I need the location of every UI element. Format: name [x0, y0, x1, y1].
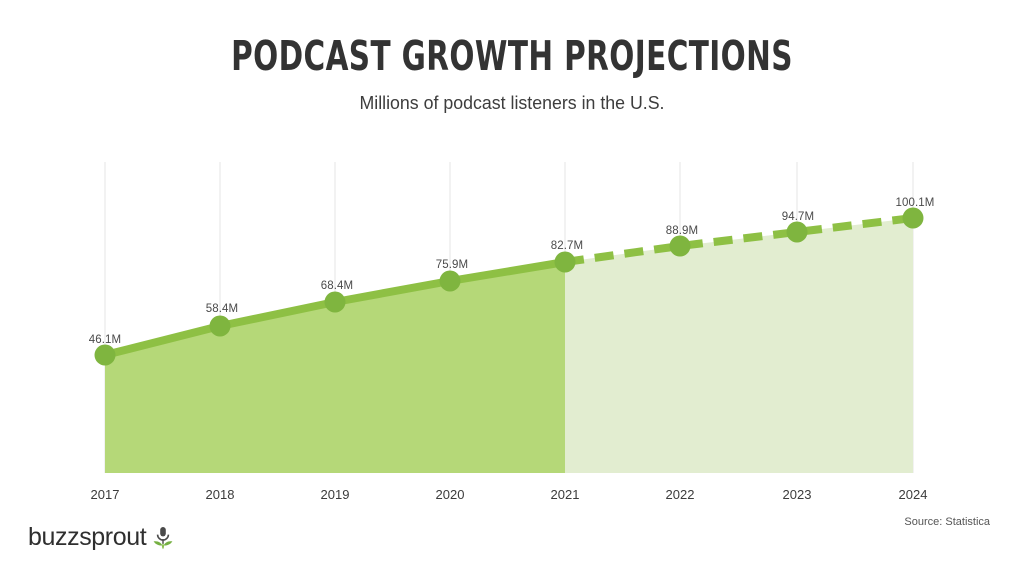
data-point-label: 100.1M	[896, 197, 935, 210]
data-point-marker[interactable]	[95, 345, 116, 366]
buzzsprout-logo[interactable]: buzzsprout	[28, 524, 174, 551]
x-axis-tick-label: 2023	[783, 487, 812, 503]
chart-svg	[0, 0, 1024, 576]
data-point-marker[interactable]	[670, 236, 691, 257]
area-fill-projected	[565, 218, 913, 473]
x-axis-tick-label: 2021	[551, 487, 580, 503]
logo-wordmark: buzzsprout	[28, 524, 146, 551]
x-axis-tick-label: 2019	[321, 487, 350, 503]
data-point-label: 82.7M	[551, 240, 583, 253]
data-point-marker[interactable]	[210, 316, 231, 337]
data-point-label: 94.7M	[782, 211, 814, 224]
x-axis-tick-label: 2018	[206, 487, 235, 503]
chart-page: Podcast Growth Projections Millions of p…	[0, 0, 1024, 576]
x-axis-tick-label: 2020	[436, 487, 465, 503]
chart-plot-area: 46.1M 58.4M 68.4M 75.9M 82.7M 88.9M 94.7…	[0, 0, 1024, 576]
data-point-label: 58.4M	[206, 303, 238, 316]
data-point-label: 46.1M	[89, 334, 121, 347]
data-point-marker[interactable]	[440, 271, 461, 292]
data-point-marker[interactable]	[325, 292, 346, 313]
data-point-marker[interactable]	[555, 252, 576, 273]
source-note: Source: Statistica	[904, 515, 990, 529]
data-point-label: 68.4M	[321, 280, 353, 293]
x-axis-tick-label: 2024	[899, 487, 928, 503]
x-axis-tick-label: 2017	[91, 487, 120, 503]
data-point-label: 88.9M	[666, 225, 698, 238]
microphone-sprout-icon	[152, 526, 174, 550]
data-point-marker[interactable]	[787, 222, 808, 243]
data-point-marker[interactable]	[903, 208, 924, 229]
data-point-label: 75.9M	[436, 259, 468, 272]
x-axis-tick-label: 2022	[666, 487, 695, 503]
